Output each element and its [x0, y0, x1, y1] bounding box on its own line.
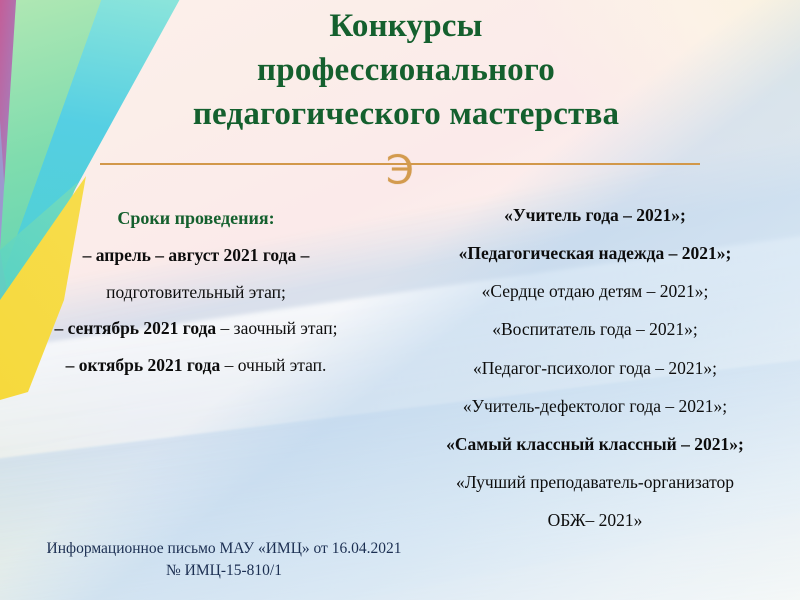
source-reference-line-1: Информационное письмо МАУ «ИМЦ» от 16.04… — [0, 538, 448, 560]
flourish-ornament-icon: ℈ — [376, 145, 424, 185]
title-line-1: Конкурсы — [96, 4, 716, 48]
schedule-item-bold: – октябрь 2021 года — [66, 355, 221, 375]
source-reference: Информационное письмо МАУ «ИМЦ» от 16.04… — [0, 538, 448, 582]
schedule-item: – октябрь 2021 года – очный этап. — [0, 347, 392, 383]
schedule-item: – сентябрь 2021 года – заочный этап; — [0, 310, 392, 346]
competition-item: ОБЖ– 2021» — [390, 501, 800, 539]
competition-item: «Учитель года – 2021»; — [390, 196, 800, 234]
competition-item: «Самый классный классный – 2021»; — [390, 425, 800, 463]
schedule-item-rest: – очный этап. — [220, 355, 326, 375]
competitions-list: «Учитель года – 2021»; «Педагогическая н… — [390, 196, 800, 539]
competition-item: «Лучший преподаватель-организатор — [390, 463, 800, 501]
schedule-item: подготовительный этап; — [0, 274, 392, 310]
presentation-slide: Конкурсы профессионального педагогическо… — [0, 0, 800, 600]
slide-title: Конкурсы профессионального педагогическо… — [96, 4, 716, 137]
competition-item: «Воспитатель года – 2021»; — [390, 310, 800, 348]
schedule-item-bold: – сентябрь 2021 года — [55, 318, 217, 338]
schedule-item: – апрель – август 2021 года – — [0, 237, 392, 273]
schedule-item-rest: – заочный этап; — [216, 318, 337, 338]
schedule-item-bold: – апрель – август 2021 года – — [83, 245, 310, 265]
title-divider: ℈ — [100, 150, 700, 180]
title-line-2: профессионального — [96, 48, 716, 92]
schedule-heading: Сроки проведения: — [0, 200, 392, 237]
competition-item: «Сердце отдаю детям – 2021»; — [390, 272, 800, 310]
competition-item: «Педагог-психолог года – 2021»; — [390, 349, 800, 387]
title-line-3: педагогического мастерства — [96, 92, 716, 136]
source-reference-line-2: № ИМЦ-15-810/1 — [0, 560, 448, 582]
competition-item: «Педагогическая надежда – 2021»; — [390, 234, 800, 272]
schedule-item-rest: подготовительный этап; — [106, 282, 286, 302]
schedule-column: Сроки проведения: – апрель – август 2021… — [0, 200, 392, 383]
competition-item: «Учитель-дефектолог года – 2021»; — [390, 387, 800, 425]
